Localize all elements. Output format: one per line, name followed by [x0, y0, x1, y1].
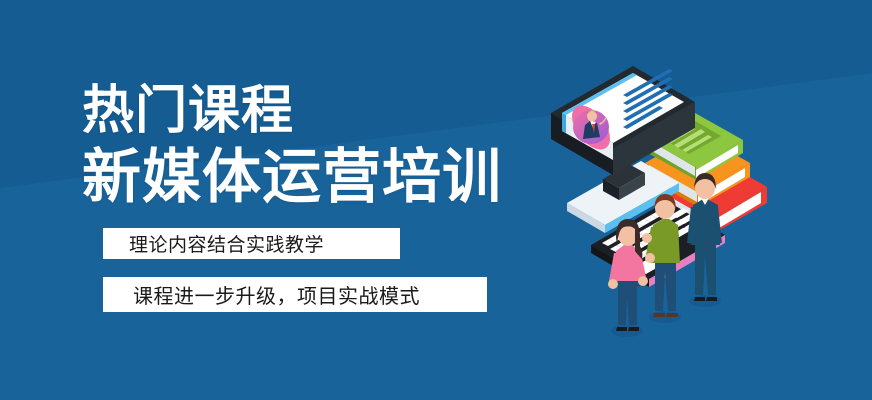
course-promo-banner: 热门课程 新媒体运营培训 理论内容结合实践教学 课程进一步升级，项目实战模式	[0, 0, 872, 400]
banner-text-content: 热门课程 新媒体运营培训 理论内容结合实践教学 课程进一步升级，项目实战模式	[0, 0, 545, 400]
isometric-online-learning-illustration	[545, 55, 805, 355]
tagline-box-2: 课程进一步升级，项目实战模式	[103, 277, 487, 312]
tagline-box-1: 理论内容结合实践教学	[103, 228, 400, 259]
page-title-primary: 热门课程	[82, 85, 294, 137]
tagline-text-2: 课程进一步升级，项目实战模式	[133, 280, 420, 309]
tagline-text-1: 理论内容结合实践教学	[129, 230, 324, 257]
page-title-secondary: 新媒体运营培训	[82, 148, 502, 207]
